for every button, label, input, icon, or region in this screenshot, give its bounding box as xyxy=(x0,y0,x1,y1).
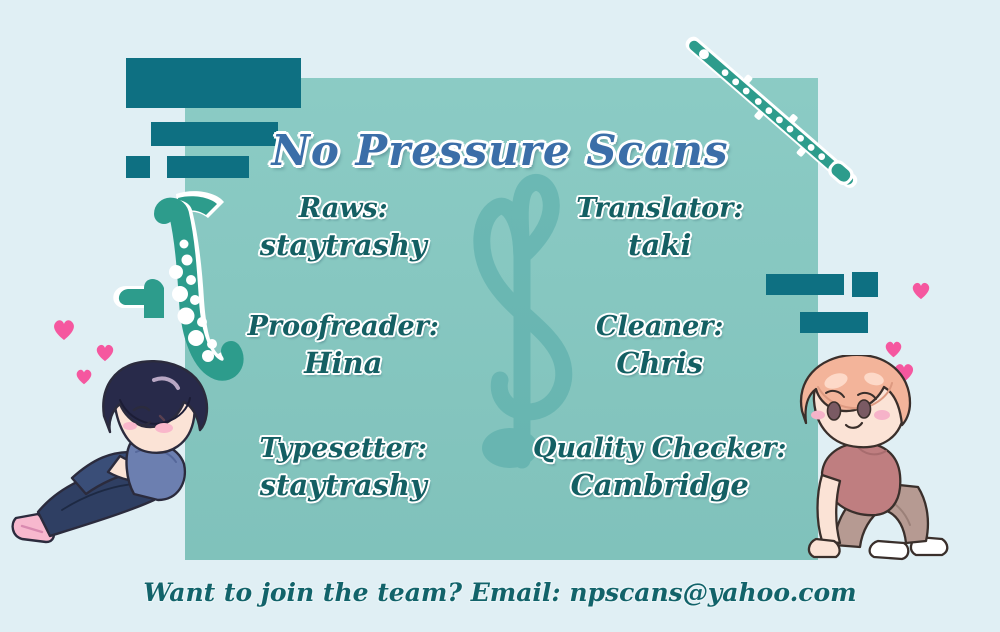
join-team-footer: Want to join the team? Email: npscans@ya… xyxy=(0,578,1000,607)
page-title: No Pressure Scans xyxy=(0,126,1000,175)
credit-role: Quality Checker: xyxy=(502,432,819,467)
credit-entry-raws: Raws: staytrashy xyxy=(185,192,502,264)
credit-name: Chris xyxy=(502,345,819,382)
credit-role: Cleaner: xyxy=(502,310,819,345)
credit-role: Proofreader: xyxy=(185,310,502,345)
credit-entry-cleaner: Cleaner: Chris xyxy=(502,310,819,382)
credit-name: staytrashy xyxy=(185,467,502,504)
credit-role: Raws: xyxy=(185,192,502,227)
credit-row: Raws: staytrashy Translator: taki xyxy=(185,192,818,264)
flute-icon xyxy=(665,25,875,210)
heart-icon xyxy=(911,281,931,300)
credit-name: Cambridge xyxy=(502,467,819,504)
credit-name: taki xyxy=(502,227,819,264)
credit-name: staytrashy xyxy=(185,227,502,264)
credits-list: Raws: staytrashy Translator: taki Proofr… xyxy=(185,192,818,522)
heart-icon xyxy=(52,318,76,341)
credit-role: Translator: xyxy=(502,192,819,227)
credit-row: Typesetter: staytrashy Quality Checker: … xyxy=(185,432,818,504)
credit-name: Hina xyxy=(185,345,502,382)
credit-entry-typesetter: Typesetter: staytrashy xyxy=(185,432,502,504)
credit-entry-quality-checker: Quality Checker: Cambridge xyxy=(502,432,819,504)
credit-row: Proofreader: Hina Cleaner: Chris xyxy=(185,310,818,382)
credits-page: No Pressure Scans Raws: staytrashy Trans… xyxy=(0,0,1000,632)
deco-block-6 xyxy=(852,272,878,297)
deco-block-1 xyxy=(126,58,301,108)
credit-entry-translator: Translator: taki xyxy=(502,192,819,264)
credit-entry-proofreader: Proofreader: Hina xyxy=(185,310,502,382)
credit-role: Typesetter: xyxy=(185,432,502,467)
